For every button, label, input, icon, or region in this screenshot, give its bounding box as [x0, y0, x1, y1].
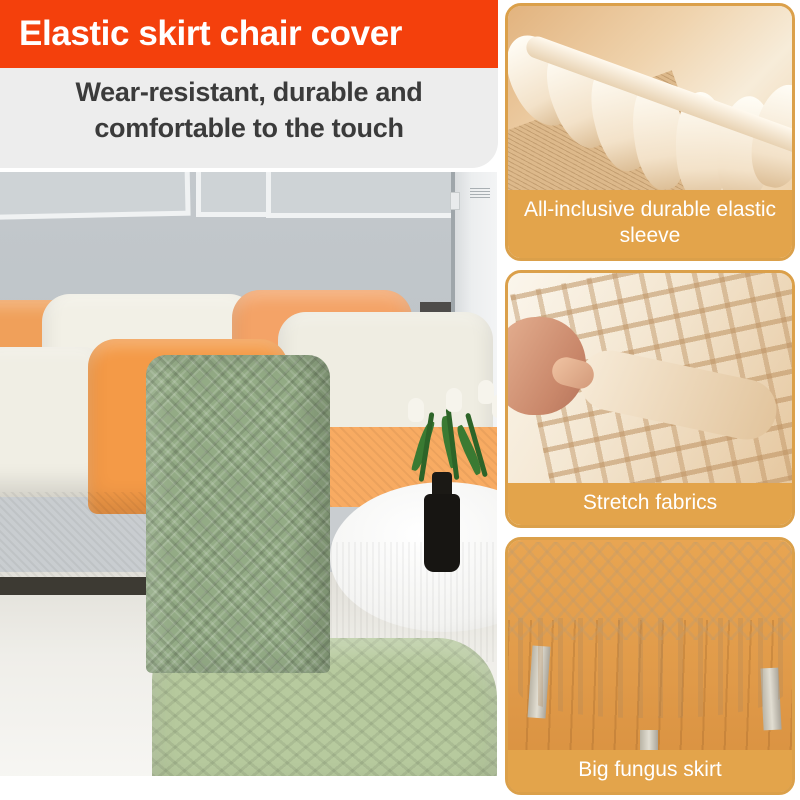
- page-subtitle: Wear-resistant, durable and comfortable …: [0, 74, 498, 146]
- panel-caption: Stretch fabrics: [508, 483, 792, 525]
- wall-sign: [470, 188, 490, 198]
- cover-top-surface: [505, 542, 795, 640]
- feature-panel-stretch-fabrics: Stretch fabrics: [505, 270, 795, 528]
- feature-panel-elastic-sleeve: All-inclusive durable elastic sleeve: [505, 3, 795, 261]
- feature-panel-big-fungus-skirt: Big fungus skirt: [505, 537, 795, 795]
- wall-frame-icon: [0, 172, 191, 220]
- page-title: Elastic skirt chair cover: [19, 12, 489, 56]
- tulip-flower: [408, 398, 424, 422]
- main-product-photo: [0, 172, 497, 776]
- black-vase: [424, 494, 460, 572]
- chair-back-cover-green: [146, 355, 330, 673]
- wall-frame-icon: [266, 172, 456, 218]
- panel-caption: Big fungus skirt: [508, 750, 792, 792]
- light-switch-icon: [450, 192, 460, 210]
- panel-caption: All-inclusive durable elastic sleeve: [508, 190, 792, 258]
- product-infographic: Elastic skirt chair cover Wear-resistant…: [0, 0, 800, 800]
- header-block: Elastic skirt chair cover Wear-resistant…: [0, 0, 500, 170]
- tulip-flower: [446, 388, 462, 412]
- tulip-flower: [492, 394, 497, 418]
